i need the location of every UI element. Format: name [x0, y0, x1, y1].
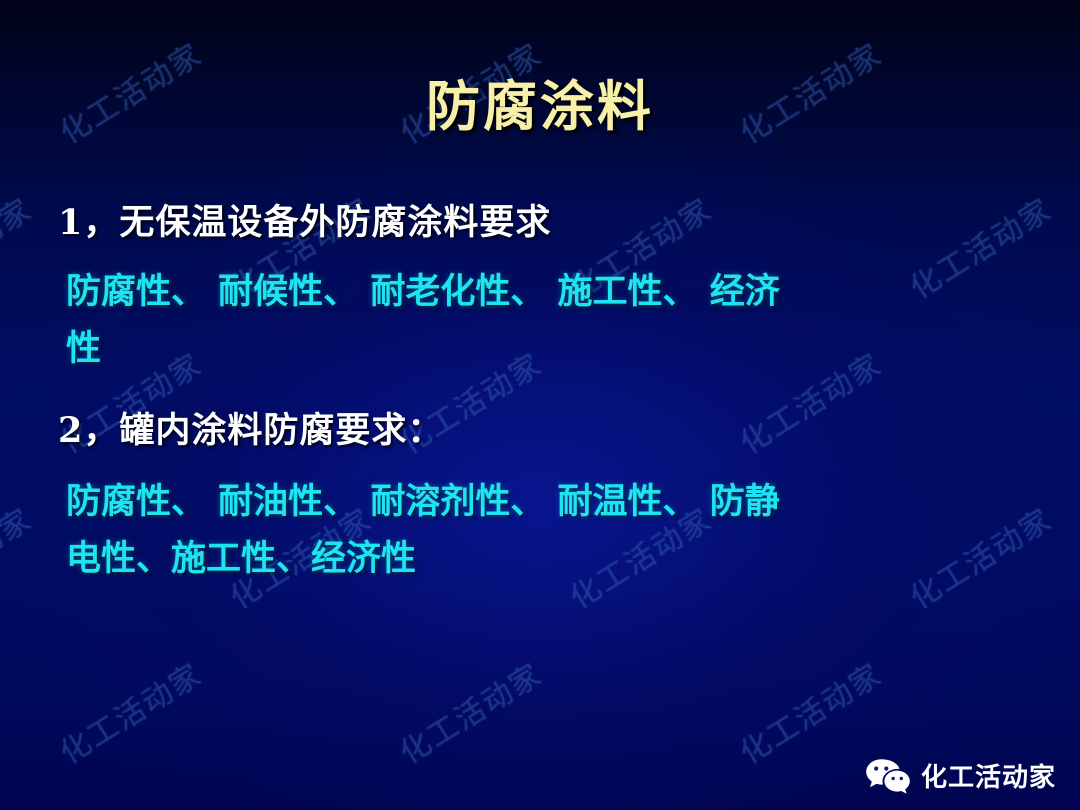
watermark-text: 化工活动家: [560, 805, 719, 810]
watermark-text: 化工活动家: [900, 805, 1059, 810]
watermark-text: 化工活动家: [1070, 340, 1080, 462]
section-1-items-line-1: 防腐性、 耐候性、 耐老化性、 施工性、 经济: [80, 264, 1028, 321]
watermark-text: 化工活动家: [220, 805, 379, 810]
section-1-items-line-2: 性: [80, 321, 1028, 378]
section-1: 1，无保温设备外防腐涂料要求 防腐性、 耐候性、 耐老化性、 施工性、 经济 性: [58, 196, 1028, 378]
watermark-text: 化工活动家: [0, 805, 39, 810]
section-2-heading: 2，罐内涂料防腐要求：: [58, 404, 1028, 458]
wechat-icon: [865, 758, 911, 794]
slide-body: 1，无保温设备外防腐涂料要求 防腐性、 耐候性、 耐老化性、 施工性、 经济 性…: [58, 196, 1028, 591]
watermark-text: 化工活动家: [0, 495, 39, 617]
section-2-items-line-1: 防腐性、 耐油性、 耐溶剂性、 耐温性、 防静: [80, 474, 1028, 531]
watermark-text: 化工活动家: [50, 650, 209, 772]
footer-brand-label: 化工活动家: [921, 757, 1056, 794]
section-1-heading: 1，无保温设备外防腐涂料要求: [58, 196, 1028, 250]
section-2: 2，罐内涂料防腐要求： 防腐性、 耐油性、 耐溶剂性、 耐温性、 防静 电性、施…: [58, 404, 1028, 588]
section-1-items: 防腐性、 耐候性、 耐老化性、 施工性、 经济 性: [58, 264, 1028, 377]
footer-branding: 化工活动家: [865, 757, 1056, 794]
watermark-text: 化工活动家: [1070, 650, 1080, 772]
watermark-text: 化工活动家: [730, 650, 889, 772]
watermark-text: 化工活动家: [390, 650, 549, 772]
page-title: 防腐涂料: [0, 62, 1080, 141]
section-2-items: 防腐性、 耐油性、 耐溶剂性、 耐温性、 防静 电性、施工性、经济性: [58, 474, 1028, 587]
slide-canvas: 化工活动家化工活动家化工活动家化工活动家化工活动家化工活动家化工活动家化工活动家…: [0, 0, 1080, 810]
watermark-text: 化工活动家: [0, 185, 39, 307]
section-2-items-line-2: 电性、施工性、经济性: [80, 531, 1028, 588]
